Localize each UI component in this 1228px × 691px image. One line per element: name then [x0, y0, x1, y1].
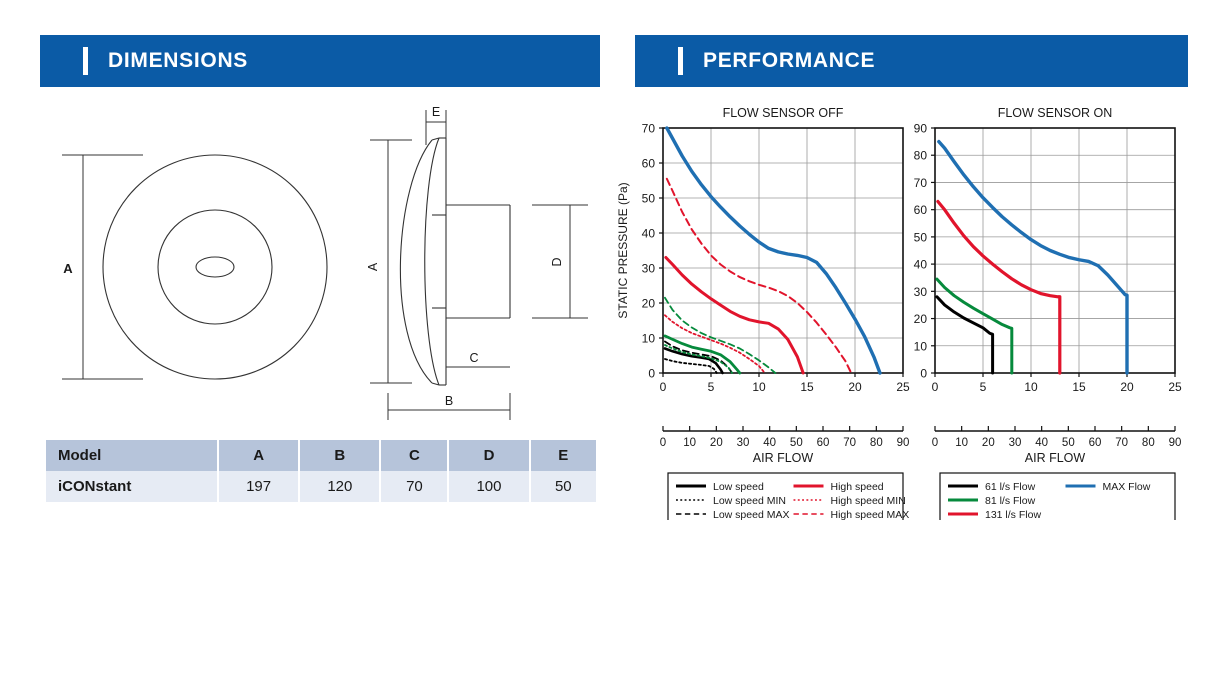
- x-tick-label: 0: [660, 380, 667, 394]
- secondary-x-tick-label: 80: [1142, 437, 1155, 449]
- label-b: B: [445, 394, 453, 408]
- chart-flow-sensor-on: FLOW SENSOR ON01020304050607080900510152…: [914, 106, 1182, 520]
- x-axis-secondary: 0102030405060708090AIR FLOW: [660, 426, 910, 465]
- secondary-x-tick-label: 30: [1009, 437, 1022, 449]
- y-tick-label: 20: [914, 312, 928, 326]
- y-tick-label: 30: [642, 262, 656, 276]
- plot-frame: [935, 128, 1175, 373]
- series-curve: [937, 279, 1012, 373]
- legend-label: High speed MIN: [831, 495, 906, 507]
- gridlines: [935, 128, 1175, 373]
- x-axis-label: AIR FLOW: [753, 451, 814, 465]
- x-tick-label: 10: [752, 380, 766, 394]
- x-tick-label: 25: [1168, 380, 1182, 394]
- performance-charts: FLOW SENSOR OFF010203040506070STATIC PRE…: [610, 100, 1200, 520]
- cell-e: 50: [530, 471, 596, 502]
- table-header-row: Model A B C D E: [46, 440, 596, 471]
- chart-legend: Low speedLow speed MINLow speed MAXMediu…: [668, 473, 912, 520]
- y-tick-label: 80: [914, 149, 928, 163]
- y-tick-label: 20: [642, 297, 656, 311]
- drawings-svg: A A E B C D: [40, 105, 600, 425]
- side-view-cover: [400, 138, 446, 385]
- secondary-x-tick-label: 50: [790, 437, 803, 449]
- secondary-x-tick-label: 90: [1169, 437, 1182, 449]
- label-side-a: A: [366, 262, 380, 271]
- x-tick-label: 20: [848, 380, 862, 394]
- secondary-x-tick-label: 10: [683, 437, 696, 449]
- legend-label: Low speed: [713, 481, 764, 493]
- y-tick-label: 60: [642, 157, 656, 171]
- y-axis: 010203040506070: [642, 122, 663, 381]
- x-tick-label: 0: [932, 380, 939, 394]
- x-tick-label: 5: [708, 380, 715, 394]
- section-header-dimensions: DIMENSIONS: [40, 35, 600, 87]
- table-header-a: A: [218, 440, 299, 471]
- y-tick-label: 70: [642, 122, 656, 136]
- accent-bar: [83, 47, 88, 75]
- table-row: iCONstant 197 120 70 100 50: [46, 471, 596, 502]
- secondary-x-tick-label: 50: [1062, 437, 1075, 449]
- legend-label: High speed MAX: [831, 509, 910, 520]
- cell-d: 100: [448, 471, 529, 502]
- front-view-grille: [103, 155, 327, 379]
- secondary-x-tick-label: 40: [1035, 437, 1048, 449]
- y-tick-label: 70: [914, 176, 928, 190]
- chart-flow-sensor-off: FLOW SENSOR OFF010203040506070STATIC PRE…: [616, 106, 912, 520]
- x-tick-label: 10: [1024, 380, 1038, 394]
- y-tick-label: 50: [914, 230, 928, 244]
- x-tick-label: 25: [896, 380, 910, 394]
- secondary-x-tick-label: 90: [897, 437, 910, 449]
- chart-title: FLOW SENSOR ON: [998, 106, 1113, 120]
- label-e: E: [432, 105, 440, 119]
- table-header-b: B: [299, 440, 380, 471]
- secondary-x-tick-label: 40: [763, 437, 776, 449]
- legend-label: 131 l/s Flow: [985, 509, 1041, 520]
- x-tick-label: 5: [980, 380, 987, 394]
- legend-label: High speed: [831, 481, 884, 493]
- secondary-x-tick-label: 60: [1089, 437, 1102, 449]
- series-curve: [665, 359, 717, 373]
- y-tick-label: 40: [642, 227, 656, 241]
- y-axis-label: STATIC PRESSURE (Pa): [616, 182, 630, 318]
- section-title-dimensions: DIMENSIONS: [108, 49, 248, 73]
- performance-charts-svg: FLOW SENSOR OFF010203040506070STATIC PRE…: [610, 100, 1200, 520]
- y-tick-label: 60: [914, 203, 928, 217]
- chart-title: FLOW SENSOR OFF: [723, 106, 844, 120]
- x-axis-primary: 0510152025: [932, 373, 1182, 394]
- section-title-performance: PERFORMANCE: [703, 49, 875, 73]
- table-header-c: C: [380, 440, 448, 471]
- secondary-x-tick-label: 70: [1115, 437, 1128, 449]
- dimension-drawings: A A E B C D: [40, 105, 600, 425]
- y-axis: 0102030405060708090: [914, 122, 935, 381]
- series-curve: [938, 202, 1060, 374]
- y-tick-label: 0: [648, 367, 655, 381]
- secondary-x-tick-label: 20: [982, 437, 995, 449]
- y-tick-label: 0: [920, 367, 927, 381]
- y-tick-label: 90: [914, 122, 928, 136]
- secondary-x-tick-label: 0: [660, 437, 666, 449]
- y-tick-label: 50: [642, 192, 656, 206]
- secondary-x-tick-label: 80: [870, 437, 883, 449]
- y-tick-label: 10: [642, 332, 656, 346]
- secondary-x-tick-label: 20: [710, 437, 723, 449]
- series-group: [665, 128, 880, 373]
- legend-label: MAX Flow: [1103, 481, 1151, 493]
- x-tick-label: 20: [1120, 380, 1134, 394]
- cell-c: 70: [380, 471, 448, 502]
- dimension-line-side-a: [370, 140, 412, 383]
- dimensions-table: Model A B C D E iCONstant 197 120 70 100…: [46, 440, 596, 502]
- x-axis-label: AIR FLOW: [1025, 451, 1086, 465]
- accent-bar: [678, 47, 683, 75]
- chart-legend: 61 l/s Flow81 l/s Flow131 l/s FlowMAX Fl…: [940, 473, 1175, 520]
- secondary-x-tick-label: 30: [737, 437, 750, 449]
- x-tick-label: 15: [800, 380, 814, 394]
- legend-label: 81 l/s Flow: [985, 495, 1036, 507]
- secondary-x-tick-label: 70: [843, 437, 856, 449]
- x-axis-primary: 0510152025: [660, 373, 910, 394]
- label-front-a: A: [63, 261, 73, 276]
- secondary-x-tick-label: 60: [817, 437, 830, 449]
- cell-a: 197: [218, 471, 299, 502]
- table-header-d: D: [448, 440, 529, 471]
- legend-label: Low speed MAX: [713, 509, 789, 520]
- table-header-e: E: [530, 440, 596, 471]
- section-header-performance: PERFORMANCE: [635, 35, 1188, 87]
- series-curve: [665, 315, 765, 373]
- series-curve: [937, 297, 993, 373]
- secondary-x-tick-label: 10: [955, 437, 968, 449]
- legend-label: 61 l/s Flow: [985, 481, 1036, 493]
- cell-model: iCONstant: [46, 471, 218, 502]
- table-header-model: Model: [46, 440, 218, 471]
- legend-label: Low speed MIN: [713, 495, 786, 507]
- y-tick-label: 10: [914, 339, 928, 353]
- series-curve: [939, 142, 1127, 373]
- series-group: [937, 142, 1127, 373]
- x-tick-label: 15: [1072, 380, 1086, 394]
- label-d: D: [550, 257, 564, 266]
- datasheet-page: DIMENSIONS PERFORMANCE: [0, 0, 1228, 691]
- cell-b: 120: [299, 471, 380, 502]
- label-c: C: [469, 351, 478, 365]
- y-tick-label: 40: [914, 258, 928, 272]
- secondary-x-tick-label: 0: [932, 437, 938, 449]
- side-view-spigot: [446, 205, 510, 318]
- y-tick-label: 30: [914, 285, 928, 299]
- x-axis-secondary: 0102030405060708090AIR FLOW: [932, 426, 1182, 465]
